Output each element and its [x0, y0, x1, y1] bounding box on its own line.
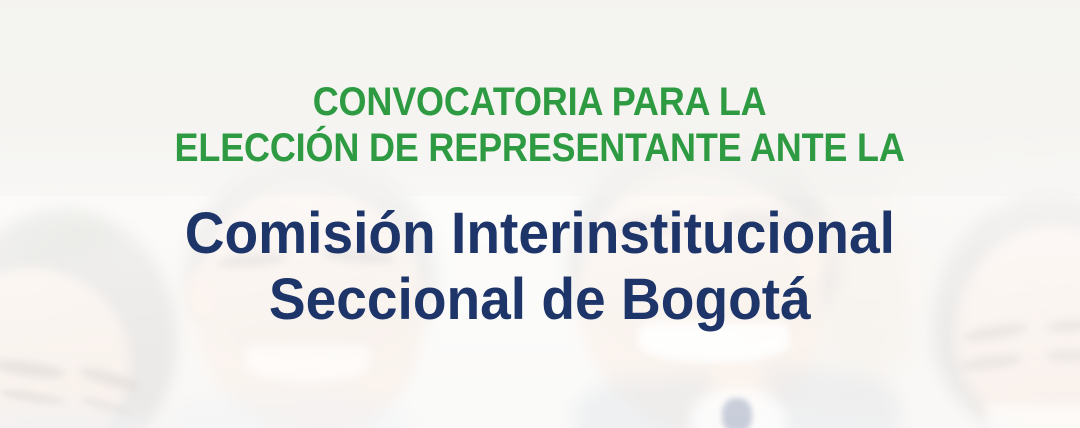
convocatoria-banner: CONVOCATORIA PARA LA ELECCIÓN DE REPRESE… — [0, 0, 1080, 428]
title-line-2: Seccional de Bogotá — [185, 267, 895, 333]
kicker-line-1: CONVOCATORIA PARA LA — [175, 80, 905, 126]
title-block: Comisión Interinstitucional Seccional de… — [166, 201, 914, 333]
title-line-1: Comisión Interinstitucional — [185, 201, 895, 267]
banner-text-layer: CONVOCATORIA PARA LA ELECCIÓN DE REPRESE… — [0, 0, 1080, 428]
kicker-line-2: ELECCIÓN DE REPRESENTANTE ANTE LA — [175, 126, 905, 172]
kicker-block: CONVOCATORIA PARA LA ELECCIÓN DE REPRESE… — [134, 80, 945, 171]
